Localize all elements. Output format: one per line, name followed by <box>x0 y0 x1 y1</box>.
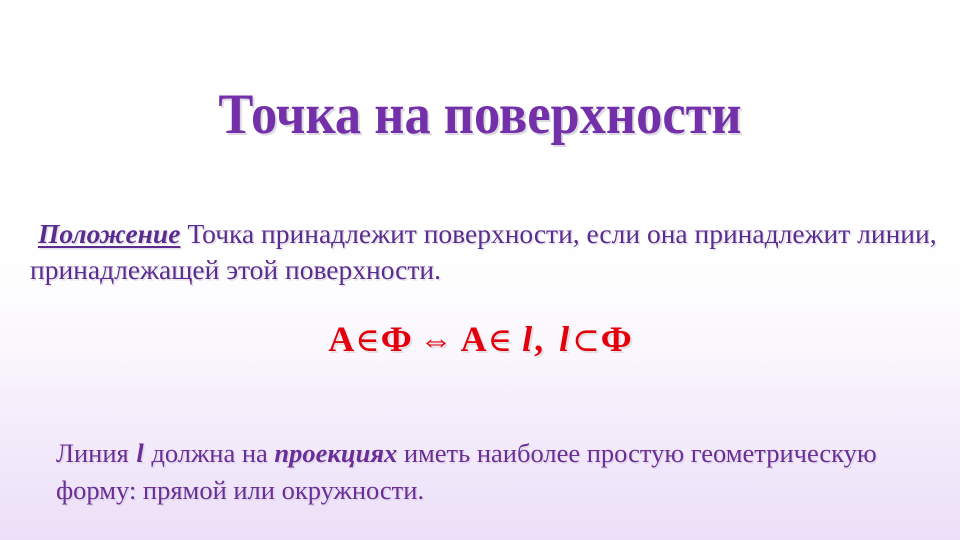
slide-canvas: Точка на поверхности ПоложениеТочка прин… <box>0 0 960 540</box>
formula-element-of-icon: ∈ <box>354 323 380 359</box>
formula-element-of-icon-2: ∈ <box>487 323 513 359</box>
definition-term: Положение <box>34 218 184 249</box>
formula-surface-phi: Ф <box>381 319 412 359</box>
note-paragraph: Линия l должна на проекциях иметь наибол… <box>56 435 920 510</box>
formula-point-a-2: А <box>461 319 487 359</box>
formula-subset-icon: ⊂ <box>571 323 601 359</box>
note-middle: должна на <box>145 438 275 468</box>
note-emphasis: проекциях <box>274 438 397 468</box>
formula-equivalence-icon: ⇔ <box>419 323 454 359</box>
note-prefix: Линия <box>56 438 135 468</box>
formula-comma: , <box>534 319 543 359</box>
formula-line-l-2: l <box>557 319 571 359</box>
formula-point-a: А <box>328 319 354 359</box>
membership-formula: А∈Ф⇔А∈l,l⊂Ф <box>0 318 960 360</box>
definition-paragraph: ПоложениеТочка принадлежит поверхности, … <box>30 216 938 289</box>
formula-surface-phi-2: Ф <box>601 319 632 359</box>
page-title: Точка на поверхности <box>38 86 921 143</box>
formula-line-l: l <box>520 319 534 359</box>
note-line-symbol: l <box>135 438 144 468</box>
